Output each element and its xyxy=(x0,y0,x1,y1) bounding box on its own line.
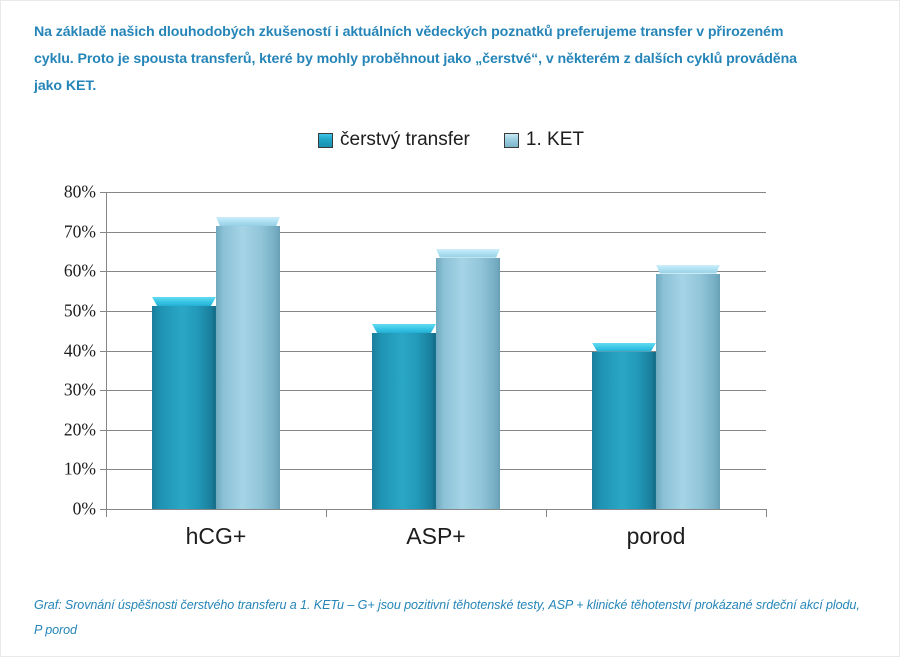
bar-body xyxy=(592,352,656,509)
bar-body xyxy=(152,306,216,509)
y-axis-tick-label: 70% xyxy=(36,221,96,242)
x-axis-tick-label: porod xyxy=(546,523,766,550)
bar-group xyxy=(326,192,546,509)
y-axis-tick-label: 0% xyxy=(36,499,96,520)
x-axis-separator xyxy=(766,509,767,517)
chart-caption: Graf: Srovnání úspěšnosti čerstvého tran… xyxy=(34,593,864,643)
x-axis-tick-label: ASP+ xyxy=(326,523,546,550)
article-page: Na základě našich dlouhodobých zkušenost… xyxy=(0,0,900,657)
plot-wrapper: 80%70%60%50%40%30%20%10%0% hCG+ASP+porod xyxy=(1,111,900,581)
bar-body xyxy=(656,274,720,509)
bar-top-bevel xyxy=(152,297,216,306)
y-axis-tick-label: 20% xyxy=(36,419,96,440)
bar-body xyxy=(216,226,280,509)
bar-ket[interactable] xyxy=(436,249,500,509)
y-axis-tick-label: 80% xyxy=(36,182,96,203)
y-axis-tick-label: 10% xyxy=(36,459,96,480)
x-axis-tick-label: hCG+ xyxy=(106,523,326,550)
bar-body xyxy=(372,333,436,509)
bar-ket[interactable] xyxy=(216,217,280,509)
bars-layer xyxy=(106,192,766,509)
x-axis-separator xyxy=(326,509,327,517)
y-axis-tick-label: 60% xyxy=(36,261,96,282)
bar-fresh[interactable] xyxy=(592,343,656,509)
x-axis-separator xyxy=(106,509,107,517)
x-axis-line xyxy=(106,509,767,510)
bar-top-bevel xyxy=(436,249,500,258)
intro-paragraph: Na základě našich dlouhodobých zkušenost… xyxy=(34,19,804,100)
y-axis-tick-label: 30% xyxy=(36,380,96,401)
y-axis-tick-label: 40% xyxy=(36,340,96,361)
bar-top-bevel xyxy=(372,324,436,333)
bar-top-bevel xyxy=(216,217,280,226)
bar-fresh[interactable] xyxy=(152,297,216,509)
bar-body xyxy=(436,258,500,509)
bar-ket[interactable] xyxy=(656,265,720,509)
x-axis-separator xyxy=(546,509,547,517)
chart: čerstvý transfer 1. KET 80%70%60%50%40%3… xyxy=(1,111,900,581)
bar-top-bevel xyxy=(592,343,656,352)
bar-group xyxy=(106,192,326,509)
x-axis-labels: hCG+ASP+porod xyxy=(106,523,766,550)
y-axis-tick-label: 50% xyxy=(36,300,96,321)
bar-group xyxy=(546,192,766,509)
bar-top-bevel xyxy=(656,265,720,274)
y-axis-labels: 80%70%60%50%40%30%20%10%0% xyxy=(34,111,96,581)
bar-fresh[interactable] xyxy=(372,324,436,509)
